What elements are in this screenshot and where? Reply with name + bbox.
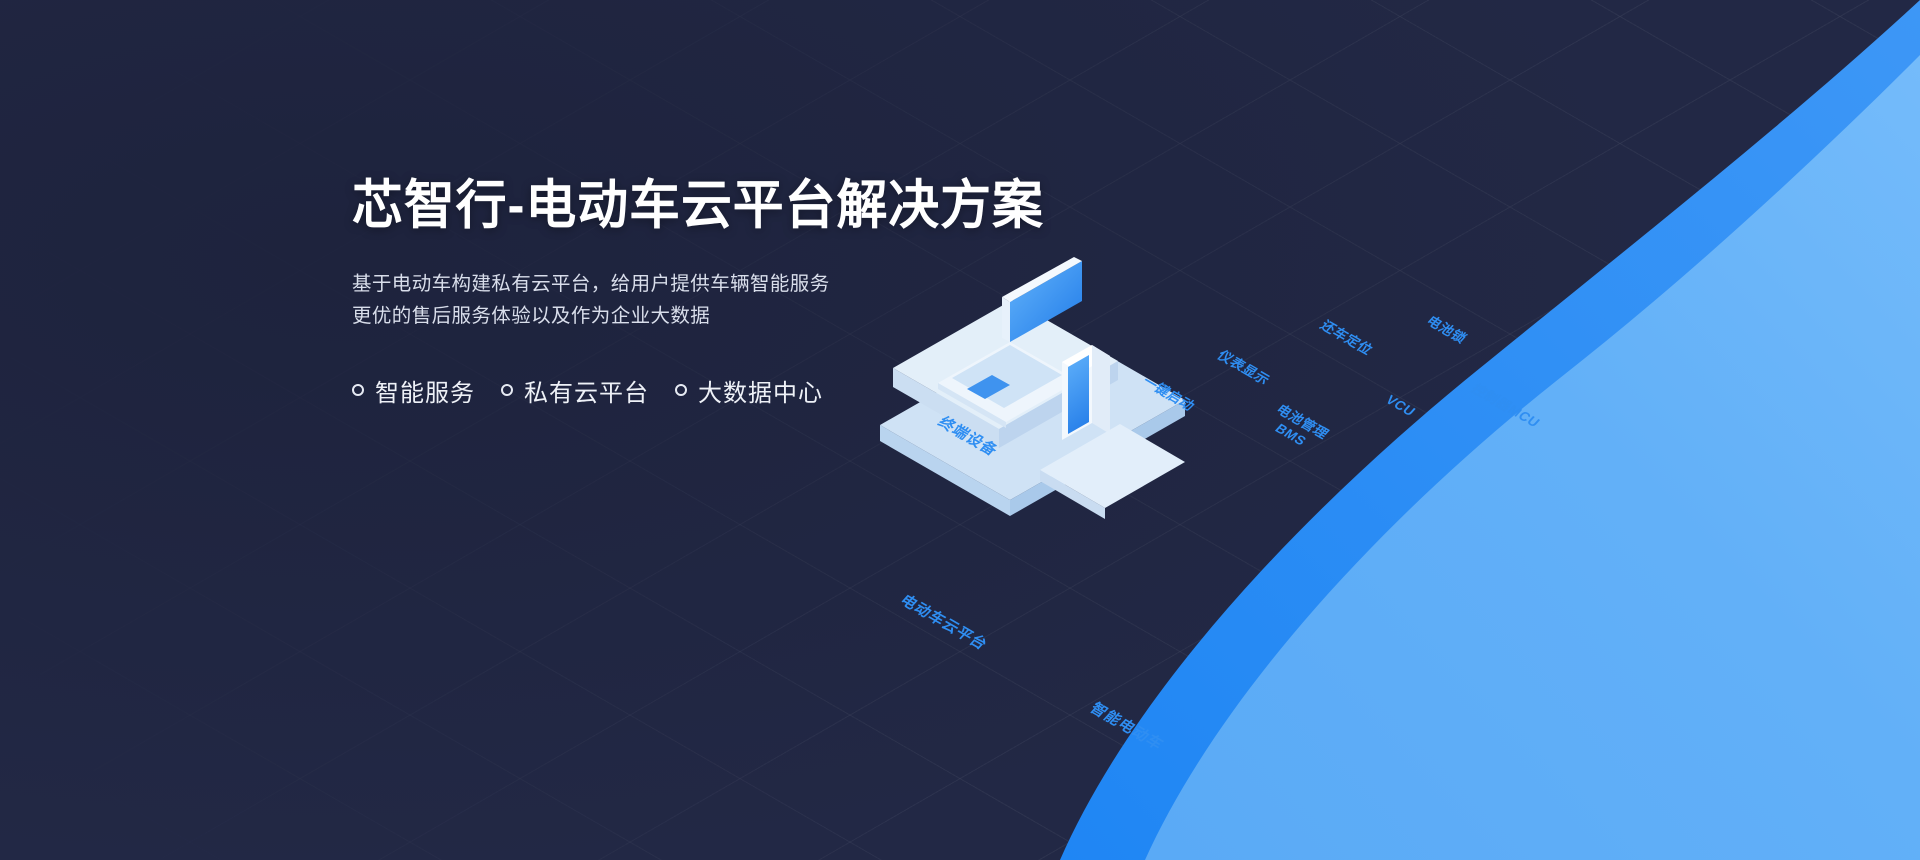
bullet-circle-icon <box>675 384 687 396</box>
subtitle-line-1: 基于电动车构建私有云平台，给用户提供车辆智能服务 <box>352 269 1132 301</box>
banner-subtitle: 基于电动车构建私有云平台，给用户提供车辆智能服务 更优的售后服务体验以及作为企业… <box>352 269 1132 332</box>
banner-copy: 芯智行-电动车云平台解决方案 基于电动车构建私有云平台，给用户提供车辆智能服务 … <box>352 176 1132 408</box>
bullet-item-1: 私有云平台 <box>501 373 649 408</box>
bullet-circle-icon <box>501 384 513 396</box>
bullet-label: 私有云平台 <box>524 373 649 408</box>
bullet-item-2: 大数据中心 <box>675 373 823 408</box>
subtitle-line-2: 更优的售后服务体验以及作为企业大数据 <box>352 301 1132 333</box>
bullet-circle-icon <box>352 384 364 396</box>
page-title: 芯智行-电动车云平台解决方案 <box>352 176 1101 235</box>
bullet-label: 大数据中心 <box>698 373 823 408</box>
bullet-label: 智能服务 <box>375 373 475 408</box>
wave-band-light <box>1145 55 1920 860</box>
banner-stage: 芯智行-电动车云平台解决方案 基于电动车构建私有云平台，给用户提供车辆智能服务 … <box>0 0 1920 860</box>
bullet-item-0: 智能服务 <box>352 373 475 408</box>
feature-bullet-list: 智能服务 私有云平台 大数据中心 <box>352 373 1132 408</box>
